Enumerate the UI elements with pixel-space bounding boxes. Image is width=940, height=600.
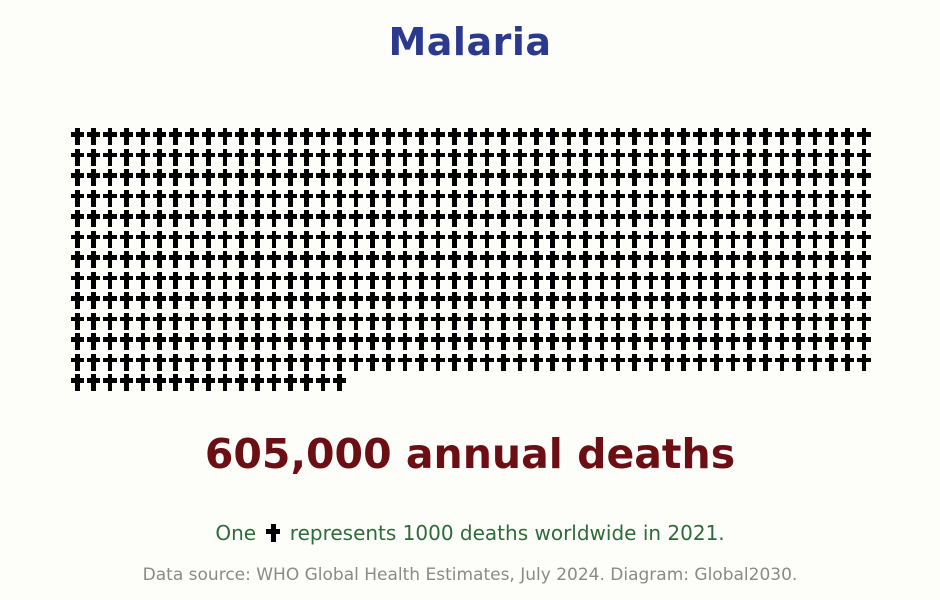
cross-icon (151, 290, 167, 311)
cross-icon (774, 290, 790, 311)
cross-icon (249, 311, 265, 332)
cross-icon (69, 311, 85, 332)
cross-icon (692, 126, 708, 147)
cross-icon (315, 147, 331, 168)
cross-icon (380, 290, 396, 311)
cross-icon (856, 126, 872, 147)
cross-icon (594, 270, 610, 291)
cross-icon (413, 126, 429, 147)
cross-icon (528, 249, 544, 270)
cross-icon (610, 188, 626, 209)
cross-icon (380, 229, 396, 250)
cross-icon (348, 249, 364, 270)
cross-icon (462, 188, 478, 209)
cross-icon (249, 208, 265, 229)
cross-icon (823, 147, 839, 168)
cross-icon (823, 311, 839, 332)
cross-icon (118, 208, 134, 229)
cross-icon (233, 188, 249, 209)
cross-icon (528, 126, 544, 147)
cross-icon (446, 126, 462, 147)
cross-icon (135, 208, 151, 229)
cross-icon (167, 167, 183, 188)
cross-icon (577, 270, 593, 291)
cross-icon (659, 147, 675, 168)
cross-icon (69, 352, 85, 373)
cross-icon (462, 208, 478, 229)
cross-icon (626, 208, 642, 229)
cross-icon (561, 290, 577, 311)
cross-icon (479, 352, 495, 373)
cross-icon (217, 147, 233, 168)
cross-icon (446, 331, 462, 352)
cross-icon (774, 331, 790, 352)
cross-icon (184, 229, 200, 250)
cross-icon (184, 331, 200, 352)
cross-icon (757, 188, 773, 209)
cross-icon (807, 270, 823, 291)
cross-icon (167, 331, 183, 352)
cross-icon (430, 188, 446, 209)
page-title: Malaria (0, 20, 940, 64)
cross-icon (692, 208, 708, 229)
cross-icon (643, 126, 659, 147)
cross-icon (282, 147, 298, 168)
cross-icon (495, 249, 511, 270)
cross-icon (741, 290, 757, 311)
cross-icon (708, 167, 724, 188)
infographic-page: Malaria 605,000 annual deaths One repres… (0, 0, 940, 600)
cross-icon (823, 352, 839, 373)
cross-icon (380, 188, 396, 209)
cross-icon (85, 167, 101, 188)
cross-icon (217, 372, 233, 393)
cross-icon (233, 167, 249, 188)
cross-icon (594, 331, 610, 352)
cross-icon (790, 249, 806, 270)
cross-icon (708, 311, 724, 332)
cross-icon (675, 126, 691, 147)
cross-icon (184, 167, 200, 188)
cross-icon (741, 188, 757, 209)
cross-icon (167, 126, 183, 147)
cross-icon (774, 352, 790, 373)
cross-icon (807, 229, 823, 250)
cross-icon (757, 311, 773, 332)
cross-icon (462, 331, 478, 352)
cross-icon (249, 331, 265, 352)
cross-icon (561, 352, 577, 373)
cross-icon (135, 270, 151, 291)
cross-icon (594, 208, 610, 229)
cross-icon (348, 188, 364, 209)
cross-icon (413, 188, 429, 209)
cross-icon (298, 147, 314, 168)
cross-icon (807, 311, 823, 332)
cross-icon (741, 249, 757, 270)
cross-icon (561, 229, 577, 250)
cross-icon (643, 147, 659, 168)
cross-icon (856, 249, 872, 270)
cross-icon (249, 270, 265, 291)
cross-icon (577, 167, 593, 188)
cross-icon (577, 188, 593, 209)
cross-icon (85, 352, 101, 373)
cross-icon (495, 352, 511, 373)
cross-icon (774, 188, 790, 209)
cross-icon (774, 229, 790, 250)
cross-icon (823, 331, 839, 352)
cross-icon (184, 311, 200, 332)
cross-icon (544, 229, 560, 250)
cross-icon (512, 126, 528, 147)
cross-icon (708, 270, 724, 291)
cross-icon (577, 147, 593, 168)
cross-icon (512, 331, 528, 352)
cross-icon (167, 352, 183, 373)
cross-icon (200, 311, 216, 332)
cross-icon (790, 229, 806, 250)
cross-icon (102, 147, 118, 168)
cross-icon (528, 188, 544, 209)
cross-icon (610, 249, 626, 270)
legend-text-after: represents 1000 deaths worldwide in 2021… (290, 521, 725, 545)
cross-icon (430, 249, 446, 270)
cross-icon (135, 290, 151, 311)
cross-icon (839, 188, 855, 209)
cross-icon (512, 311, 528, 332)
cross-icon (167, 270, 183, 291)
cross-icon (839, 311, 855, 332)
cross-icon (118, 188, 134, 209)
cross-icon (774, 208, 790, 229)
cross-icon (856, 167, 872, 188)
cross-icon (413, 229, 429, 250)
cross-icon (282, 249, 298, 270)
cross-icon (184, 126, 200, 147)
cross-icon (118, 270, 134, 291)
cross-icon (249, 352, 265, 373)
cross-icon (528, 208, 544, 229)
cross-icon (135, 188, 151, 209)
cross-icon (266, 229, 282, 250)
cross-icon (561, 270, 577, 291)
cross-icon (512, 167, 528, 188)
cross-icon (331, 372, 347, 393)
cross-icon (364, 126, 380, 147)
cross-icon (69, 249, 85, 270)
cross-icon (430, 147, 446, 168)
cross-icon (380, 126, 396, 147)
cross-icon (266, 311, 282, 332)
cross-icon (217, 290, 233, 311)
cross-icon (725, 229, 741, 250)
cross-icon (561, 249, 577, 270)
cross-icon (364, 188, 380, 209)
cross-icon (364, 167, 380, 188)
cross-icon (315, 249, 331, 270)
cross-icon (118, 167, 134, 188)
cross-icon (839, 229, 855, 250)
cross-icon (167, 311, 183, 332)
cross-icon (167, 188, 183, 209)
legend-text-before: One (215, 521, 256, 545)
cross-icon (856, 331, 872, 352)
cross-icon (298, 331, 314, 352)
cross-icon (217, 229, 233, 250)
cross-icon (413, 311, 429, 332)
cross-icon (479, 229, 495, 250)
cross-icon (675, 229, 691, 250)
cross-icon (413, 249, 429, 270)
cross-icon (610, 126, 626, 147)
cross-icon (692, 167, 708, 188)
cross-icon (807, 147, 823, 168)
cross-icon (594, 352, 610, 373)
cross-icon (610, 331, 626, 352)
cross-icon (577, 126, 593, 147)
cross-icon (741, 270, 757, 291)
pictogram-chart (69, 126, 879, 394)
cross-icon (233, 229, 249, 250)
cross-icon (692, 270, 708, 291)
cross-icon (626, 249, 642, 270)
cross-icon (233, 126, 249, 147)
cross-icon (807, 208, 823, 229)
cross-icon (643, 290, 659, 311)
cross-icon (594, 311, 610, 332)
cross-icon (643, 208, 659, 229)
cross-icon (741, 208, 757, 229)
cross-icon (413, 270, 429, 291)
cross-icon (315, 311, 331, 332)
cross-icon (266, 331, 282, 352)
cross-icon (151, 249, 167, 270)
cross-icon (298, 352, 314, 373)
cross-icon (610, 270, 626, 291)
cross-icon (315, 352, 331, 373)
cross-icon (102, 188, 118, 209)
cross-icon (807, 331, 823, 352)
cross-icon (184, 372, 200, 393)
cross-icon (446, 188, 462, 209)
cross-icon (217, 188, 233, 209)
cross-icon (675, 147, 691, 168)
cross-icon (626, 311, 642, 332)
cross-icon (315, 372, 331, 393)
cross-icon (348, 147, 364, 168)
cross-icon (69, 229, 85, 250)
cross-icon (512, 270, 528, 291)
cross-icon (331, 229, 347, 250)
cross-icon (757, 147, 773, 168)
cross-icon (298, 188, 314, 209)
cross-icon (741, 126, 757, 147)
cross-icon (167, 372, 183, 393)
cross-icon (364, 352, 380, 373)
cross-icon (512, 147, 528, 168)
cross-icon (643, 167, 659, 188)
cross-icon (102, 249, 118, 270)
cross-icon (790, 147, 806, 168)
cross-icon (69, 167, 85, 188)
cross-icon (725, 311, 741, 332)
cross-icon (266, 290, 282, 311)
cross-icon (757, 126, 773, 147)
cross-icon (856, 208, 872, 229)
cross-icon (102, 126, 118, 147)
cross-icon (692, 311, 708, 332)
cross-icon (790, 311, 806, 332)
cross-icon (380, 208, 396, 229)
cross-icon (675, 167, 691, 188)
cross-icon (577, 311, 593, 332)
cross-icon (315, 331, 331, 352)
cross-icon (495, 126, 511, 147)
cross-icon (528, 147, 544, 168)
cross-icon (331, 208, 347, 229)
cross-icon (741, 229, 757, 250)
cross-icon (708, 126, 724, 147)
cross-icon (380, 249, 396, 270)
cross-icon (757, 229, 773, 250)
cross-icon (135, 372, 151, 393)
cross-icon (561, 167, 577, 188)
cross-icon (544, 331, 560, 352)
cross-icon (249, 188, 265, 209)
cross-icon (364, 290, 380, 311)
cross-icon (544, 188, 560, 209)
cross-icon (708, 208, 724, 229)
cross-icon (757, 290, 773, 311)
cross-icon (790, 331, 806, 352)
cross-icon (69, 208, 85, 229)
cross-icon (462, 167, 478, 188)
cross-icon (348, 311, 364, 332)
cross-icon (298, 270, 314, 291)
cross-icon (594, 167, 610, 188)
cross-icon (725, 331, 741, 352)
cross-icon (725, 126, 741, 147)
cross-icon (102, 372, 118, 393)
cross-icon (610, 229, 626, 250)
cross-icon (462, 126, 478, 147)
cross-icon (807, 352, 823, 373)
cross-icon (790, 126, 806, 147)
cross-icon (118, 331, 134, 352)
cross-icon (85, 270, 101, 291)
cross-icon (741, 147, 757, 168)
cross-icon (430, 229, 446, 250)
cross-icon (249, 167, 265, 188)
cross-icon (839, 352, 855, 373)
cross-icon (331, 249, 347, 270)
cross-icon (348, 208, 364, 229)
cross-icon (282, 208, 298, 229)
cross-icon (692, 188, 708, 209)
cross-icon (659, 311, 675, 332)
cross-icon (413, 167, 429, 188)
cross-icon (413, 290, 429, 311)
cross-icon (413, 352, 429, 373)
cross-icon (839, 290, 855, 311)
cross-icon (167, 208, 183, 229)
cross-icon (446, 352, 462, 373)
cross-icon (151, 188, 167, 209)
cross-icon (528, 270, 544, 291)
cross-icon (446, 270, 462, 291)
cross-icon (217, 311, 233, 332)
cross-icon (708, 290, 724, 311)
cross-icon (184, 290, 200, 311)
cross-icon (446, 290, 462, 311)
cross-icon (118, 126, 134, 147)
cross-icon (790, 167, 806, 188)
cross-icon (135, 311, 151, 332)
cross-icon (397, 290, 413, 311)
cross-icon (135, 147, 151, 168)
cross-icon (528, 352, 544, 373)
cross-icon (839, 331, 855, 352)
cross-icon (282, 352, 298, 373)
cross-icon (266, 352, 282, 373)
cross-icon (151, 208, 167, 229)
cross-icon (610, 290, 626, 311)
cross-icon (708, 331, 724, 352)
cross-icon (741, 167, 757, 188)
cross-icon (626, 270, 642, 291)
cross-icon (364, 311, 380, 332)
cross-icon (561, 188, 577, 209)
cross-icon (659, 126, 675, 147)
cross-icon (462, 270, 478, 291)
cross-icon (413, 147, 429, 168)
cross-icon (85, 249, 101, 270)
cross-icon (544, 352, 560, 373)
cross-icon (725, 208, 741, 229)
cross-icon (102, 229, 118, 250)
cross-icon (856, 229, 872, 250)
cross-icon (331, 311, 347, 332)
cross-icon (331, 147, 347, 168)
cross-icon (512, 249, 528, 270)
cross-icon (757, 331, 773, 352)
cross-icon (577, 249, 593, 270)
cross-icon (561, 147, 577, 168)
cross-icon (331, 331, 347, 352)
cross-icon (266, 188, 282, 209)
cross-icon (282, 229, 298, 250)
cross-icon (430, 126, 446, 147)
cross-icon (561, 126, 577, 147)
cross-icon (430, 331, 446, 352)
source-footer: Data source: WHO Global Health Estimates… (0, 565, 940, 585)
cross-icon (184, 188, 200, 209)
cross-icon (364, 147, 380, 168)
cross-icon (659, 249, 675, 270)
cross-icon (807, 290, 823, 311)
cross-icon (397, 208, 413, 229)
cross-icon (708, 229, 724, 250)
cross-icon (659, 167, 675, 188)
cross-icon (594, 229, 610, 250)
cross-icon (397, 270, 413, 291)
cross-icon (249, 290, 265, 311)
cross-icon (757, 208, 773, 229)
cross-icon (282, 372, 298, 393)
cross-icon (282, 188, 298, 209)
cross-icon (315, 270, 331, 291)
